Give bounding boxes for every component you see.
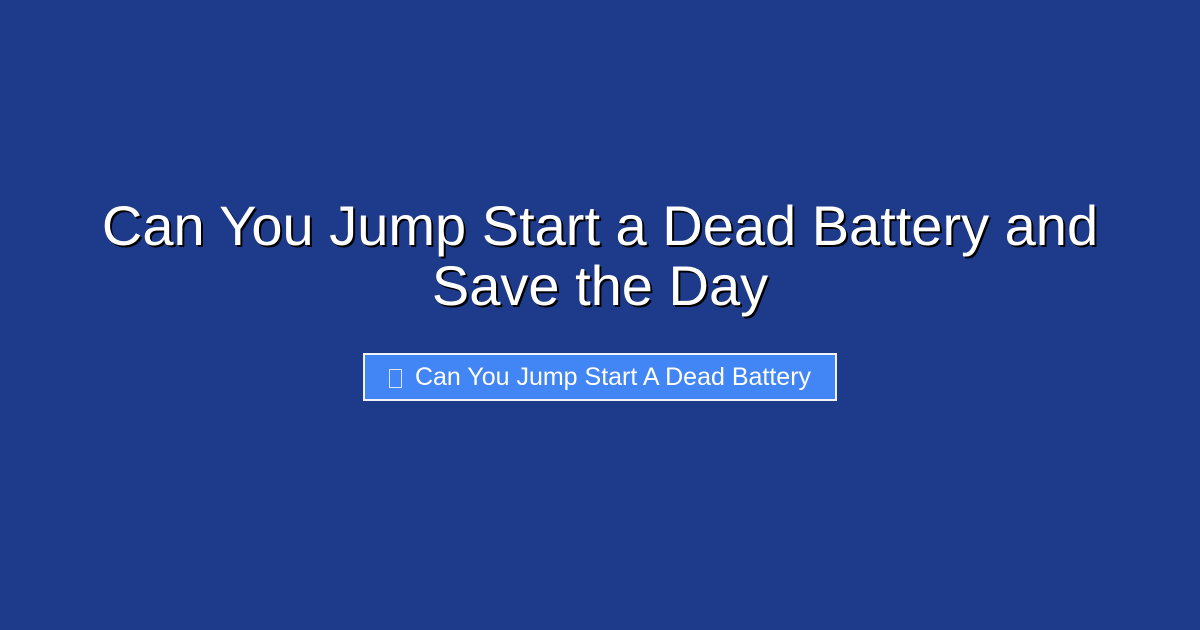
page-title: Can You Jump Start a Dead Battery and Sa… (60, 0, 1140, 316)
cta-container: Can You Jump Start A Dead Battery (60, 353, 1140, 401)
missing-glyph-box-icon (389, 369, 402, 388)
cta-button-label: Can You Jump Start A Dead Battery (415, 365, 811, 390)
cta-button[interactable]: Can You Jump Start A Dead Battery (363, 353, 837, 401)
og-image-card: Can You Jump Start a Dead Battery and Sa… (0, 0, 1200, 630)
card-content: Can You Jump Start a Dead Battery and Sa… (0, 0, 1200, 401)
